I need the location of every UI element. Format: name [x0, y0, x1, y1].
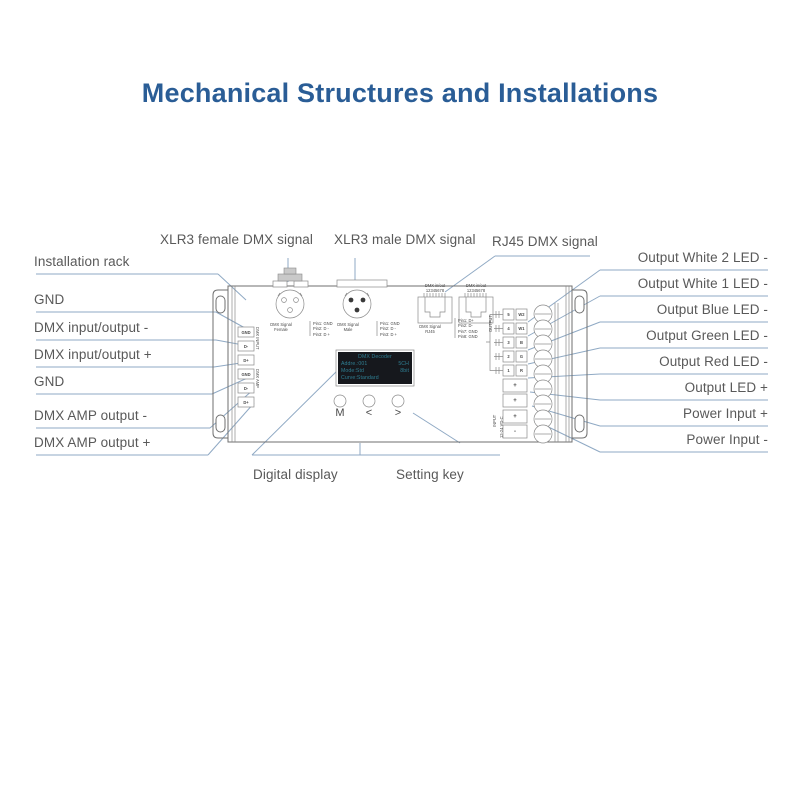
xlr-male-connector [343, 290, 371, 318]
display-line-mode: 8bit Mode:Std [341, 368, 409, 374]
xlr-male-pin-1 [349, 298, 354, 303]
terminal-label-input-dplus: D+ [238, 358, 254, 363]
xlr-female-housing-base2 [294, 281, 308, 287]
rj45-jack-1 [418, 293, 452, 323]
terminal-label-amp-dplus: D+ [238, 400, 254, 405]
label-digital-display: Digital display [253, 467, 338, 482]
channel-num-2: 2 [503, 354, 514, 359]
label-dmx-io-minus: DMX input/output - [34, 320, 148, 335]
display-address: Addre.:001 [341, 361, 367, 367]
xlr-male-housing [337, 280, 387, 287]
power-minus-label: - [503, 429, 527, 437]
xlr-female-housing-base [273, 281, 287, 287]
label-installation-rack: Installation rack [34, 254, 130, 269]
channel-num-1: 1 [503, 368, 514, 373]
input-voltage-label: 12-24 VD-C [499, 416, 504, 438]
channel-num-5: 5 [503, 312, 514, 317]
mount-slot-top-right [575, 296, 584, 313]
terminal-label-input-dminus: D- [238, 344, 254, 349]
rj45-legend: DMX Signal RJ45 [406, 324, 454, 335]
terminal-label-amp-dminus: D- [238, 386, 254, 391]
channel-name-w1: W1 [516, 326, 527, 331]
leader-output-red [528, 374, 768, 378]
label-output-white2: Output White 2 LED - [638, 250, 768, 265]
terminal-group-label-dmx-amp: DMX AMP [255, 369, 260, 388]
label-power-input-plus: Power Input + [683, 406, 768, 421]
rj45-jack-2-caption: DMX in/out 12345678 [452, 283, 500, 294]
leader-gnd-2 [36, 375, 254, 394]
rj45-pinout: Pin1: D+ Pin2: D- Pin7: GND Pin8: GND [458, 318, 478, 340]
terminal-group-label-dmx-input: DMX INPUT [255, 327, 260, 350]
common-plus-label-1: + [503, 383, 527, 391]
xlr-female-housing-collar [278, 274, 302, 281]
mount-slot-bottom-left [216, 415, 225, 432]
label-xlr3-male: XLR3 male DMX signal [334, 232, 476, 247]
channel-name-r: R [516, 368, 527, 373]
terminal-label-amp-gnd: GND [238, 372, 254, 377]
display-mode: Mode:Std [341, 368, 364, 374]
mount-slot-top-left [216, 296, 225, 313]
diagram-vector-layer: .ld{stroke:#8fa9c4;stroke-width:1;fill:n… [0, 0, 800, 800]
label-power-input-minus: Power Input - [686, 432, 768, 447]
channel-name-b: B [516, 340, 527, 345]
label-output-red: Output Red LED - [659, 354, 768, 369]
key-circle-next [392, 395, 404, 407]
display-line-curve: Curve:Standard [341, 375, 409, 381]
channel-name-g: G [516, 354, 527, 359]
xlr-male-pinout: Pin1: GND Pin2: D - Pin3: D + [380, 321, 400, 337]
channel-num-4: 4 [503, 326, 514, 331]
label-setting-key: Setting key [396, 467, 464, 482]
key-circle-m [334, 395, 346, 407]
label-output-blue: Output Blue LED - [657, 302, 768, 317]
label-output-led-plus: Output LED + [685, 380, 768, 395]
label-gnd-1: GND [34, 292, 64, 307]
input-group-label: INPUT [492, 415, 497, 427]
mount-slot-bottom-right [575, 415, 584, 432]
xlr-male-pin-2 [361, 298, 366, 303]
xlr-female-connector [276, 290, 304, 318]
leader-setting-key [413, 413, 460, 443]
key-label-next[interactable]: > [388, 407, 408, 419]
channel-name-w2: W2 [516, 312, 527, 317]
label-gnd-2: GND [34, 374, 64, 389]
xlr-female-pin-3 [288, 308, 293, 313]
key-circle-prev [363, 395, 375, 407]
xlr-male-legend: DMX Signal Male [322, 322, 374, 333]
display-line-title: DMX Decoder [338, 354, 412, 360]
xlr-female-legend: DMX Signal Female [255, 322, 307, 333]
screw-terminal-column [534, 303, 558, 443]
xlr-female-pin-2 [282, 298, 287, 303]
label-rj45: RJ45 DMX signal [492, 234, 598, 249]
key-label-prev[interactable]: < [359, 407, 379, 419]
key-label-m[interactable]: M [330, 407, 350, 419]
leader-dmx-io-minus [36, 340, 254, 347]
power-plus-label: + [503, 414, 527, 422]
digital-display-screen: DMX Decoder 5CH Addre.:001 8bit Mode:Std… [338, 352, 412, 384]
display-bitdepth: 8bit [400, 368, 409, 374]
display-channel-count: 5CH [398, 361, 409, 367]
xlr-female-housing-neck [284, 268, 296, 274]
label-xlr3-female: XLR3 female DMX signal [160, 232, 313, 247]
xlr-male-pin-3 [355, 308, 360, 313]
label-amp-minus: DMX AMP output - [34, 408, 147, 423]
label-output-green: Output Green LED - [646, 328, 768, 343]
diagram-canvas: Mechanical Structures and Installations … [0, 0, 800, 800]
terminal-label-input-gnd: GND [238, 330, 254, 335]
label-dmx-io-plus: DMX input/output + [34, 347, 152, 362]
label-amp-plus: DMX AMP output + [34, 435, 151, 450]
common-plus-label-2: + [503, 398, 527, 406]
output-group-label: OUTPUT [488, 315, 493, 332]
display-line-address: 5CH Addre.:001 [341, 361, 409, 367]
xlr-female-pin-1 [294, 298, 299, 303]
leader-installation-rack [36, 274, 246, 300]
channel-num-3: 3 [503, 340, 514, 345]
label-output-white1: Output White 1 LED - [638, 276, 768, 291]
